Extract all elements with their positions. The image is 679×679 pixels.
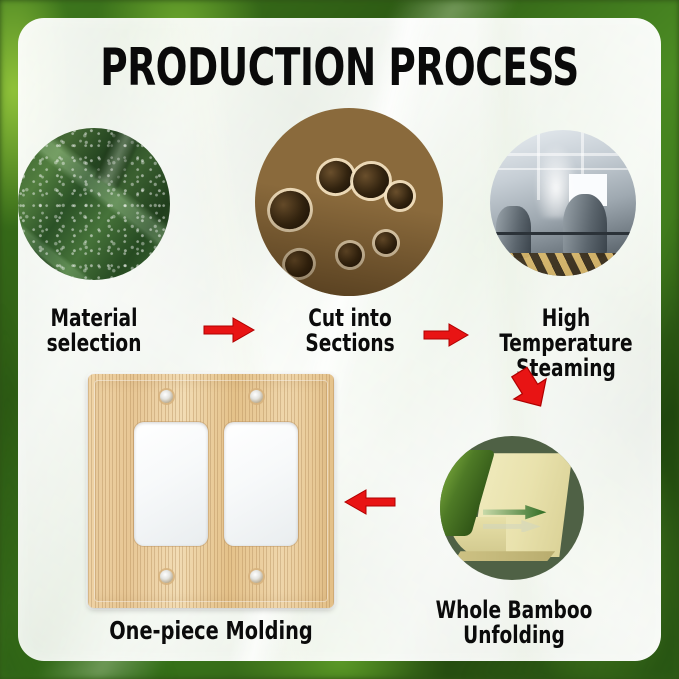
step-label-whole-bamboo-unfolding: Whole Bamboo Unfolding	[419, 598, 608, 648]
tube-shading-overlay	[255, 108, 443, 296]
step-label-high-temperature-steaming: High Temperature Steaming	[473, 306, 659, 381]
step-image-whole-bamboo-unfolding	[440, 436, 584, 580]
step-label-cut-into-sections: Cut into Sections	[274, 306, 425, 356]
hazard-stripe-floor	[490, 253, 636, 276]
step-image-material-selection	[18, 128, 170, 280]
poster-canvas: PRODUCTION PROCESS Material selection Cu…	[0, 0, 679, 679]
factory-railing	[490, 232, 636, 235]
plate-opening-right	[224, 422, 298, 546]
arrow-right-icon-1	[203, 316, 255, 344]
arrow-down-left-icon	[508, 358, 552, 420]
step-image-one-piece-molding	[88, 374, 334, 608]
step-image-cut-into-sections	[255, 108, 443, 296]
screw-hole	[160, 390, 173, 403]
step-image-high-temperature-steaming	[490, 130, 636, 276]
arrow-right-icon-2	[423, 322, 469, 348]
arrow-left-icon	[344, 488, 396, 516]
screw-hole	[250, 570, 263, 583]
plate-opening-left	[134, 422, 208, 546]
steaming-vessel	[563, 194, 607, 258]
unfold-arrow-shadow-icon	[483, 520, 541, 533]
step-label-material-selection: Material selection	[25, 306, 163, 356]
page-title: PRODUCTION PROCESS	[68, 38, 611, 98]
step-label-one-piece-molding: One-piece Molding	[97, 618, 326, 644]
water-droplets-texture	[18, 128, 170, 280]
screw-hole	[250, 390, 263, 403]
screw-hole	[160, 570, 173, 583]
unfold-arrow-icon	[483, 505, 546, 519]
sheet-thickness-edge	[454, 551, 555, 561]
